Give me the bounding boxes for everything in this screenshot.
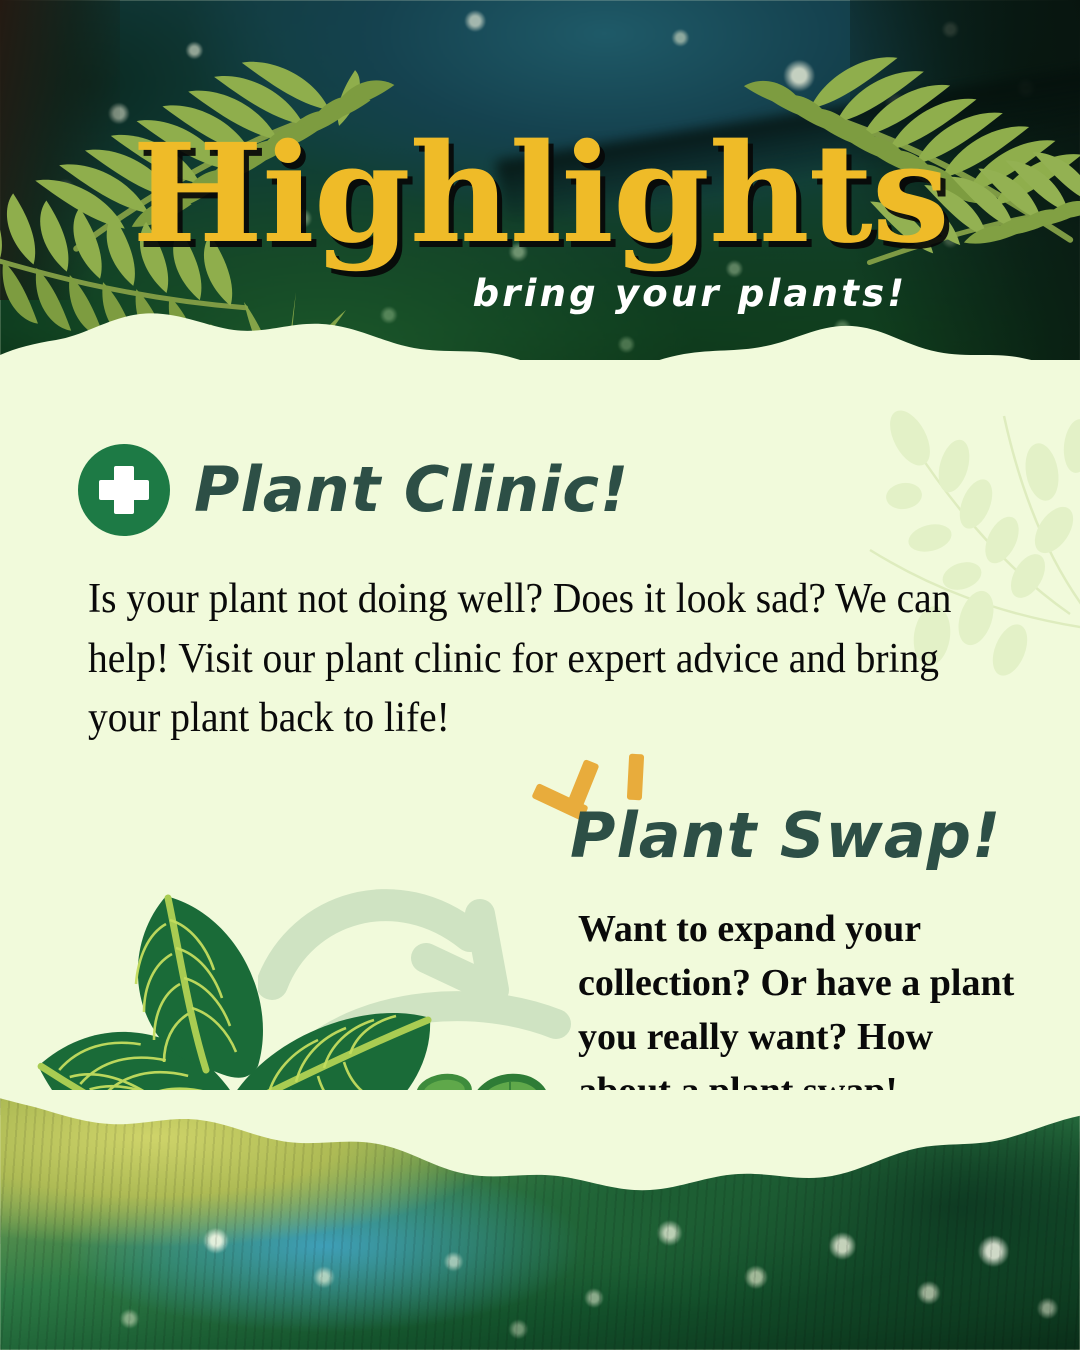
poster-canvas: Highlights bring your plants! [0,0,1080,1350]
plant-clinic-heading: Plant Clinic! [194,459,629,521]
hero-banner: Highlights bring your plants! [0,0,1080,420]
page-title: Highlights [132,128,949,261]
plant-swap-heading-row: Plant Swap! [570,805,1001,867]
plant-swap-heading: Plant Swap! [570,805,1001,867]
medical-cross-icon [78,444,170,536]
footer-banner [0,1090,1080,1350]
plant-swap-body-text: Want to expand your collection? Or have … [578,903,1026,1119]
sparkle-dash [627,754,644,801]
plant-clinic-body-text: Is your plant not doing well? Does it lo… [88,570,964,749]
plant-clinic-heading-row: Plant Clinic! [78,444,629,536]
poster-title-wrap: Highlights [0,128,1080,261]
torn-edge-bottom [0,1090,1080,1238]
